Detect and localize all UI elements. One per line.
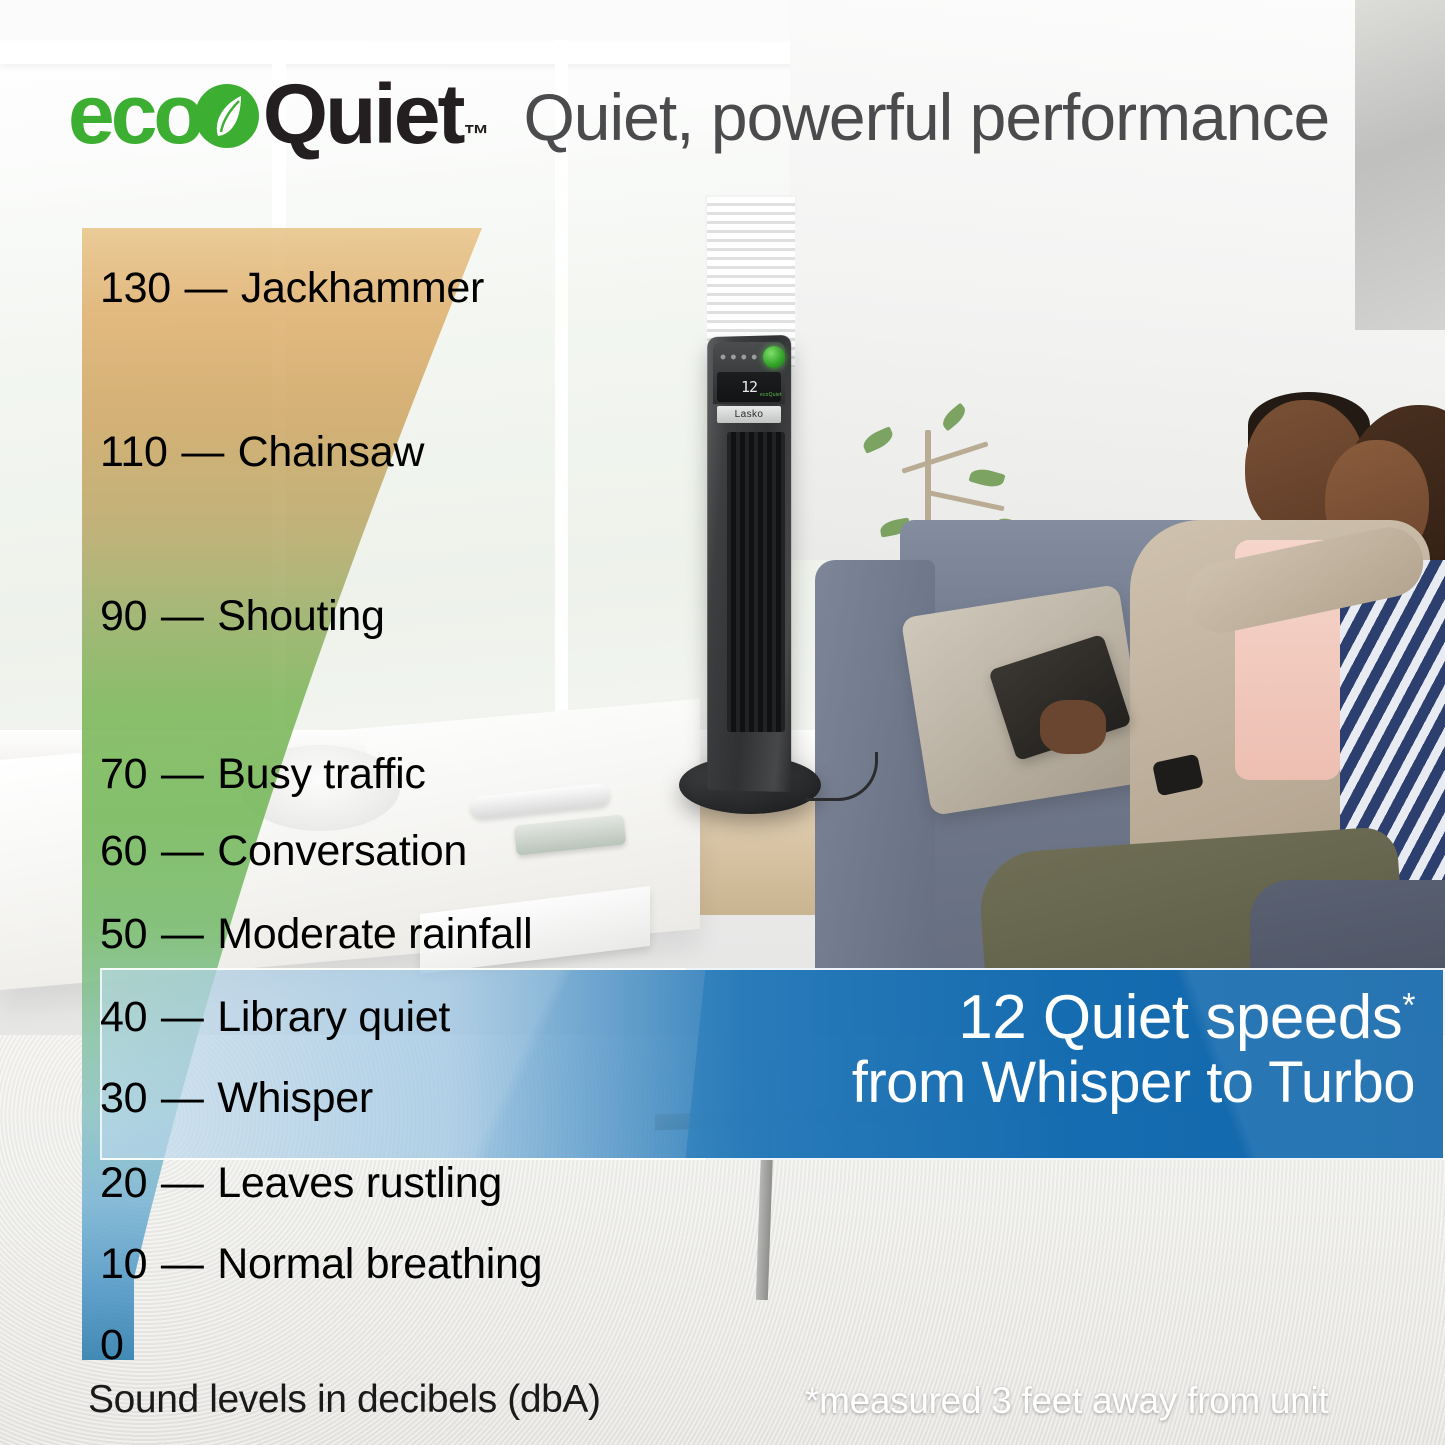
- scale-dash: —: [159, 913, 206, 956]
- measurement-footnote: *measured 3 feet away from unit: [805, 1380, 1328, 1422]
- scale-db-value: 50: [100, 913, 147, 956]
- scale-row: 70 — Busy traffic: [100, 753, 426, 796]
- scale-row: 90 — Shouting: [100, 595, 385, 638]
- ecoquiet-logo: eco Quiet ™: [68, 72, 489, 156]
- scale-row: 20 — Leaves rustling: [100, 1162, 502, 1205]
- scale-label: Jackhammer: [241, 267, 484, 310]
- scale-row: 110 — Chainsaw: [100, 431, 424, 474]
- scale-axis-zero: 0: [100, 1324, 124, 1367]
- leaf-icon: [208, 94, 248, 138]
- scale-label: Normal breathing: [217, 1243, 542, 1286]
- scale-dash: —: [159, 1243, 206, 1286]
- scale-label: Moderate rainfall: [217, 913, 532, 956]
- scale-label: Busy traffic: [217, 753, 425, 796]
- scale-dash: —: [183, 267, 230, 310]
- trademark-symbol: ™: [463, 119, 489, 150]
- scale-db-value: 10: [100, 1243, 147, 1286]
- scale-row: 60 — Conversation: [100, 830, 467, 873]
- scale-caption: Sound levels in decibels (dbA): [88, 1378, 601, 1422]
- scale-db-value: 20: [100, 1162, 147, 1205]
- header: eco Quiet ™ Quiet, powerful performance: [68, 72, 1329, 156]
- scale-dash: —: [159, 830, 206, 873]
- scale-db-value: 130: [100, 267, 171, 310]
- header-tagline: Quiet, powerful performance: [523, 84, 1329, 150]
- scale-label: Shouting: [217, 595, 384, 638]
- scale-dash: —: [159, 1077, 206, 1120]
- scale-row: 50 — Moderate rainfall: [100, 913, 532, 956]
- scale-row: 10 — Normal breathing: [100, 1243, 542, 1286]
- scale-db-value: 60: [100, 830, 147, 873]
- scale-label: Leaves rustling: [217, 1162, 502, 1205]
- scale-db-value: 110: [100, 431, 168, 474]
- scale-db-value: 70: [100, 753, 147, 796]
- scale-db-value: 90: [100, 595, 147, 638]
- scale-label: Library quiet: [217, 996, 450, 1039]
- decibel-scale-list: 130 — Jackhammer 110 — Chainsaw 90 — Sho…: [0, 0, 1445, 1445]
- logo-quiet-text: Quiet: [263, 72, 463, 156]
- scale-dash: —: [159, 753, 206, 796]
- logo-eco-text: eco: [68, 72, 201, 156]
- scale-db-value: 40: [100, 996, 147, 1039]
- leaf-circle-icon: [195, 84, 259, 148]
- infographic-canvas: 12 ecoQuiet Lasko: [0, 0, 1445, 1445]
- scale-dash: —: [159, 996, 206, 1039]
- scale-label: Whisper: [217, 1077, 373, 1120]
- scale-db-value: 30: [100, 1077, 147, 1120]
- scale-dash: —: [159, 595, 206, 638]
- scale-row: 40 — Library quiet: [100, 996, 450, 1039]
- scale-row: 130 — Jackhammer: [100, 267, 484, 310]
- scale-label: Chainsaw: [238, 431, 424, 474]
- scale-row: 30 — Whisper: [100, 1077, 373, 1120]
- scale-dash: —: [179, 431, 226, 474]
- scale-dash: —: [159, 1162, 206, 1205]
- scale-label: Conversation: [217, 830, 467, 873]
